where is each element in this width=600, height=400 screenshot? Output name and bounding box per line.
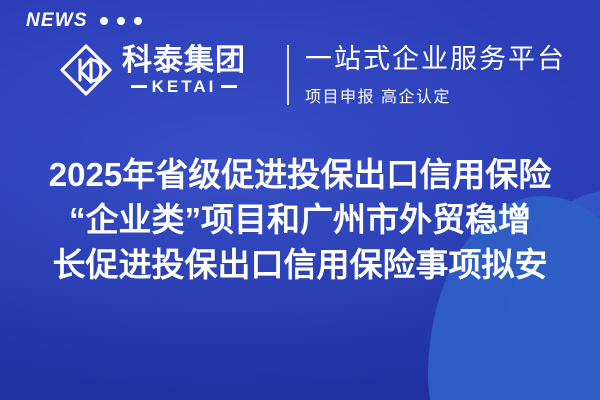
- ketai-diamond-monogram-icon: [58, 42, 114, 98]
- headline-line-3: 长促进投保出口信用保险事项拟安: [16, 242, 584, 287]
- brand-lockup: 科泰集团 KETAI: [58, 42, 246, 98]
- tagline-block: 一站式企业服务平台 项目申报 高企认定: [305, 44, 566, 107]
- brand-name-block: 科泰集团 KETAI: [122, 45, 246, 96]
- lockup-divider: [287, 45, 289, 105]
- brand-rule-left: [131, 85, 147, 88]
- page-title: 2025年省级促进投保出口信用保险 “企业类”项目和广州市外贸稳增 长促进投保出…: [0, 152, 600, 287]
- news-eyebrow: NEWS: [26, 10, 142, 32]
- eyebrow-dots: [100, 17, 142, 25]
- dot-icon: [134, 17, 142, 25]
- news-label: NEWS: [26, 10, 88, 32]
- dot-icon: [100, 17, 108, 25]
- news-banner: NEWS 科泰集团: [0, 0, 600, 400]
- brand-rule-right: [221, 85, 237, 88]
- tagline-main: 一站式企业服务平台: [305, 44, 566, 76]
- dot-icon: [117, 17, 125, 25]
- tagline-sub: 项目申报 高企认定: [305, 83, 566, 107]
- headline-line-1: 2025年省级促进投保出口信用保险: [16, 152, 584, 197]
- headline-line-2: “企业类”项目和广州市外贸稳增: [16, 197, 584, 242]
- brand-name-en: KETAI: [152, 78, 217, 95]
- brand-name-cn: 科泰集团: [122, 45, 246, 77]
- brand-name-en-row: KETAI: [122, 78, 246, 95]
